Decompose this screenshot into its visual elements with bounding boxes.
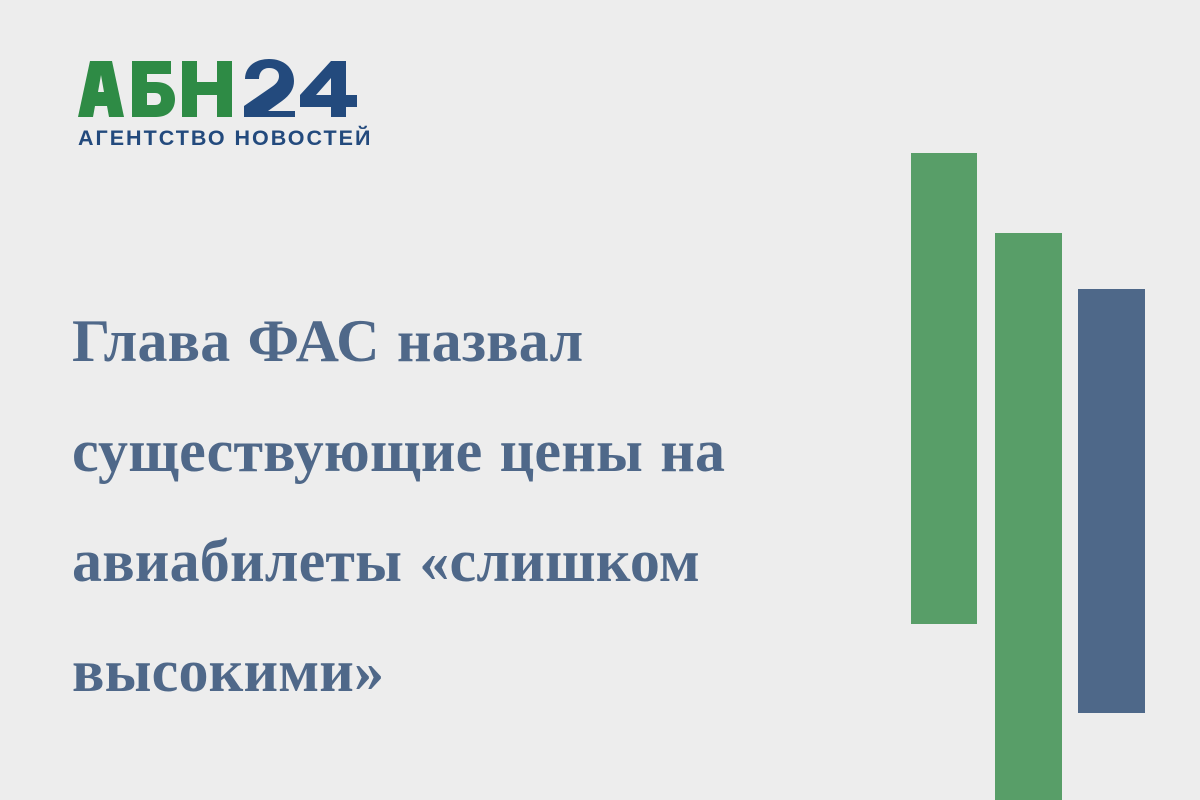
news-card: АГЕНТСТВО НОВОСТЕЙ Глава ФАС назвал суще…: [0, 0, 1200, 800]
page-title: Глава ФАС назвал существующие цены на ав…: [72, 286, 872, 726]
logo[interactable]: АГЕНТСТВО НОВОСТЕЙ: [78, 58, 378, 151]
chart-bar-2: [995, 233, 1062, 800]
chart-bar-1: [911, 153, 977, 624]
chart-bar-3: [1078, 289, 1145, 713]
logo-tagline: АГЕНТСТВО НОВОСТЕЙ: [78, 126, 378, 151]
abn24-wordmark-icon: [78, 58, 364, 120]
